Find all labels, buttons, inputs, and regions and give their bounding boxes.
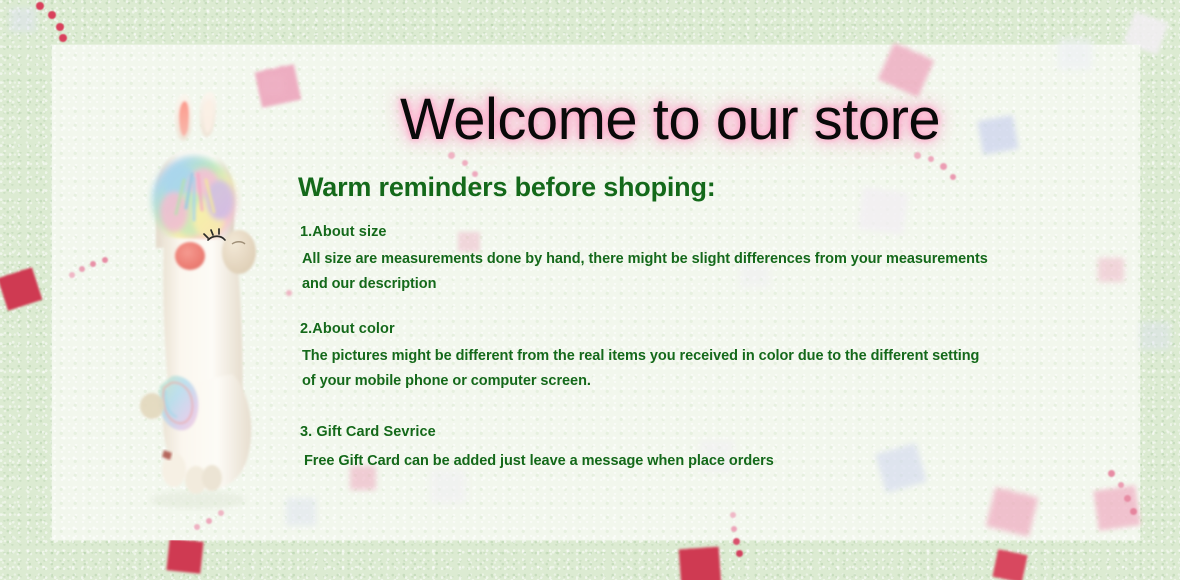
dot-trail-top-left	[59, 34, 67, 42]
section-line: Free Gift Card can be added just leave a…	[304, 453, 774, 469]
dot-trail-bottom-center	[736, 550, 743, 557]
section-heading: 2.About color	[300, 321, 979, 337]
section-heading: 1.About size	[300, 224, 988, 240]
section-line: All size are measurements done by hand, …	[302, 251, 988, 267]
heart-decoration-crimson-bottom-center	[679, 547, 722, 580]
section-line: The pictures might be different from the…	[302, 348, 979, 364]
dot-trail-top-left	[48, 11, 56, 19]
section-gift-card-service: 3. Gift Card Sevrice Free Gift Card can …	[300, 424, 774, 478]
section-heading: 3. Gift Card Sevrice	[300, 424, 774, 440]
page-title: Welcome to our store	[400, 86, 940, 153]
section-line: of your mobile phone or computer screen.	[302, 373, 979, 389]
subtitle-warm-reminders: Warm reminders before shoping:	[298, 172, 716, 203]
section-about-color: 2.About color The pictures might be diff…	[300, 321, 979, 398]
product-image-alpaca-plush	[112, 88, 282, 516]
heart-decoration-crimson-bottom-right	[992, 549, 1027, 580]
section-line: and our description	[302, 276, 988, 292]
heart-decoration-lavender-far-right-low	[1140, 322, 1170, 350]
heart-decoration-crimson-bottom-left	[166, 538, 203, 573]
store-banner: Welcome to our store Warm reminders befo…	[0, 0, 1180, 580]
heart-decoration-lavender-top-left	[10, 8, 36, 32]
section-about-size: 1.About size All size are measurements d…	[300, 224, 988, 301]
heart-decoration-crimson-left	[0, 267, 42, 310]
dot-trail-top-left	[56, 23, 64, 31]
dot-trail-top-left	[36, 2, 44, 10]
